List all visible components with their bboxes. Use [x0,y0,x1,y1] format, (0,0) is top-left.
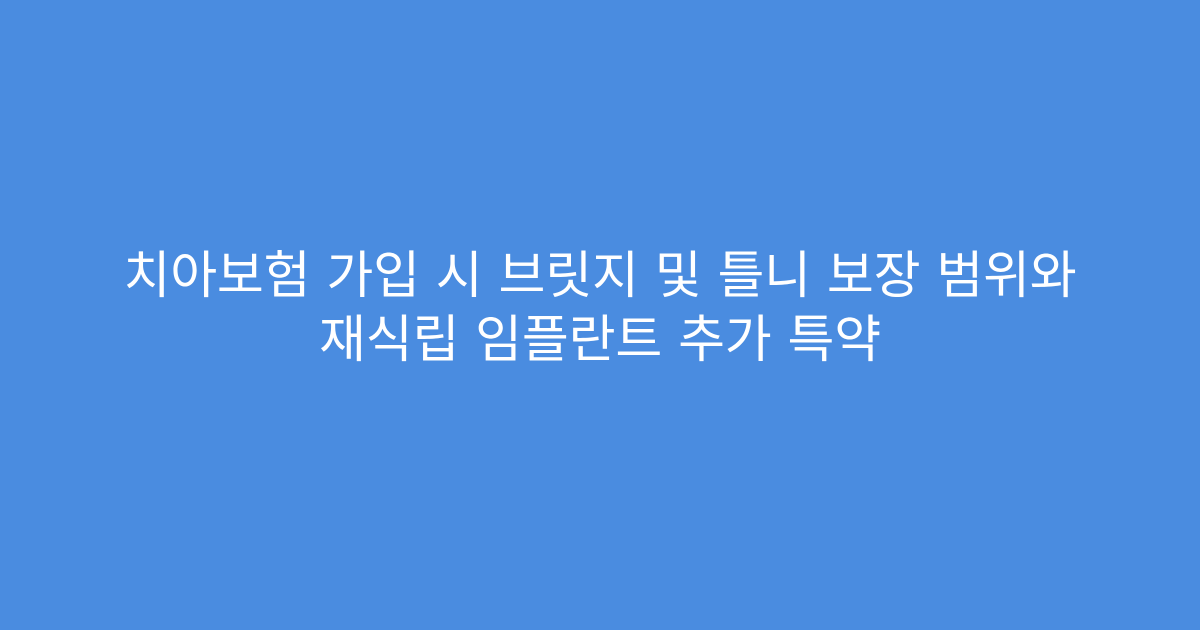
banner-card: 치아보험 가입 시 브릿지 및 틀니 보장 범위와 재식립 임플란트 추가 특약 [0,0,1200,630]
page-title: 치아보험 가입 시 브릿지 및 틀니 보장 범위와 재식립 임플란트 추가 특약 [123,245,1076,373]
page-title-line-1: 치아보험 가입 시 브릿지 및 틀니 보장 범위와 [123,245,1076,309]
banner-content: 치아보험 가입 시 브릿지 및 틀니 보장 범위와 재식립 임플란트 추가 특약 [80,245,1120,373]
page-title-line-2: 재식립 임플란트 추가 특약 [123,309,1076,373]
